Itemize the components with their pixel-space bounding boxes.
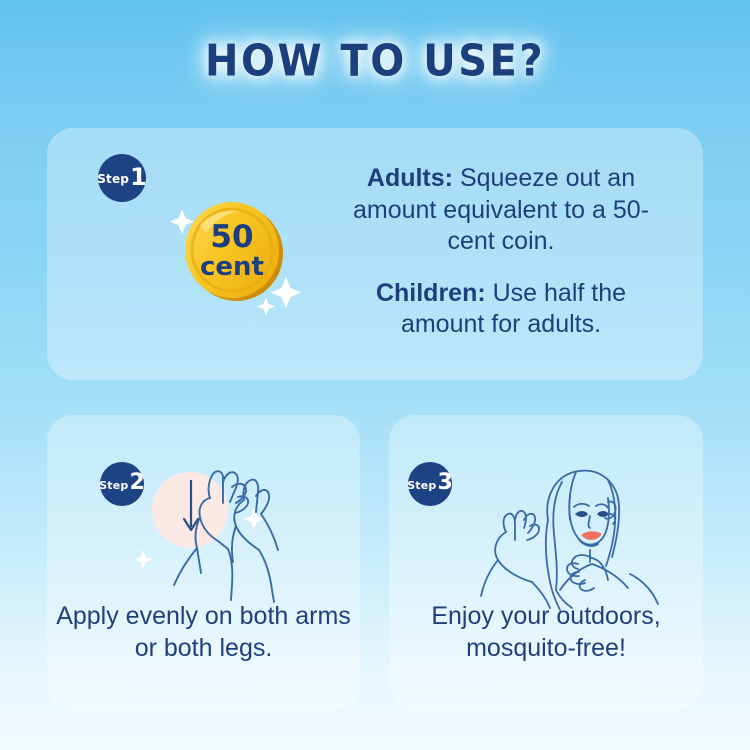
step-3-caption: Enjoy your outdoors, mosquito-free! — [389, 600, 703, 664]
woman-line-art — [481, 471, 658, 610]
adults-instruction: Adults: Squeeze out an amount equivalent… — [336, 163, 666, 258]
adults-label: Adults: — [367, 164, 453, 192]
title-container: HOW TO USE? — [0, 38, 750, 84]
children-label: Children: — [376, 279, 486, 307]
gold-coin-icon: 50 cent — [160, 185, 310, 315]
woman-outdoors-icon — [440, 462, 670, 612]
step-1-badge-word: Step — [97, 173, 129, 185]
hands-applying-lotion-icon — [128, 440, 338, 605]
step-1-badge: Step 1 — [98, 154, 146, 202]
children-instruction: Children: Use half the amount for adults… — [336, 278, 666, 341]
svg-text:50: 50 — [210, 219, 253, 255]
svg-text:cent: cent — [200, 252, 264, 282]
page-title: HOW TO USE? — [205, 36, 545, 87]
step-2-caption: Apply evenly on both arms or both legs. — [47, 600, 360, 664]
step-1-badge-number: 1 — [130, 165, 147, 189]
step-1-body: Adults: Squeeze out an amount equivalent… — [336, 163, 666, 341]
step-3-badge-word: Step — [407, 480, 436, 491]
how-to-use-poster: HOW TO USE? Step 1 — [0, 0, 750, 750]
step-2-badge-word: Step — [99, 480, 128, 491]
